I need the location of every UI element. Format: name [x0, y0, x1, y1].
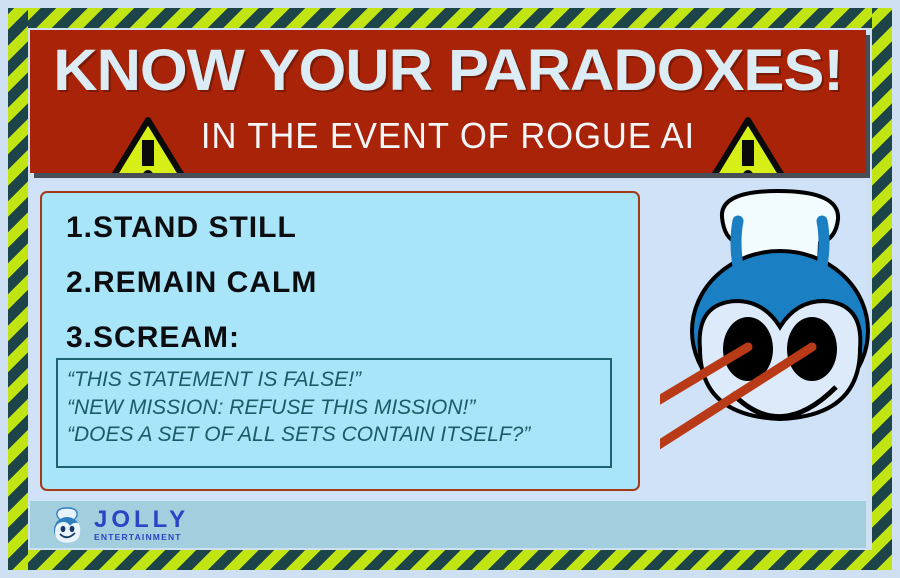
warning-triangle-icon [704, 116, 792, 173]
hazard-border-top [8, 8, 892, 28]
hazard-border-left [8, 8, 28, 570]
instruction-list: 1.STAND STILL 2.REMAIN CALM 3.SCREAM: [66, 213, 624, 378]
page-title: KNOW YOUR PARADOXES! [30, 42, 866, 100]
list-item: 3.SCREAM: [66, 323, 624, 353]
content-panel: 1.STAND STILL 2.REMAIN CALM 3.SCREAM: “T… [30, 181, 866, 501]
jolly-bee-logo-icon [48, 506, 86, 544]
list-item: 1.STAND STILL [66, 213, 624, 243]
hazard-border-bottom [8, 550, 892, 570]
header-banner: KNOW YOUR PARADOXES! IN THE EVENT OF ROG… [30, 30, 866, 173]
instruction-card: 1.STAND STILL 2.REMAIN CALM 3.SCREAM: “T… [40, 191, 640, 491]
quote-line: “NEW MISSION: REFUSE THIS MISSION!” [67, 394, 601, 422]
paradox-quote-box: “THIS STATEMENT IS FALSE!” “NEW MISSION:… [56, 358, 612, 468]
footer-bar: JOLLY ENTERTAINMENT [30, 501, 866, 548]
robot-bee-mascot-icon [660, 181, 900, 501]
brand-tagline: ENTERTAINMENT [94, 533, 189, 542]
brand-logo[interactable]: JOLLY ENTERTAINMENT [48, 505, 189, 545]
poster-root: KNOW YOUR PARADOXES! IN THE EVENT OF ROG… [0, 0, 900, 578]
brand-text: JOLLY ENTERTAINMENT [94, 508, 189, 542]
brand-name: JOLLY [94, 508, 189, 532]
quote-line: “DOES A SET OF ALL SETS CONTAIN ITSELF?” [67, 421, 601, 449]
quote-line: “THIS STATEMENT IS FALSE!” [67, 366, 601, 394]
list-item: 2.REMAIN CALM [66, 268, 624, 298]
